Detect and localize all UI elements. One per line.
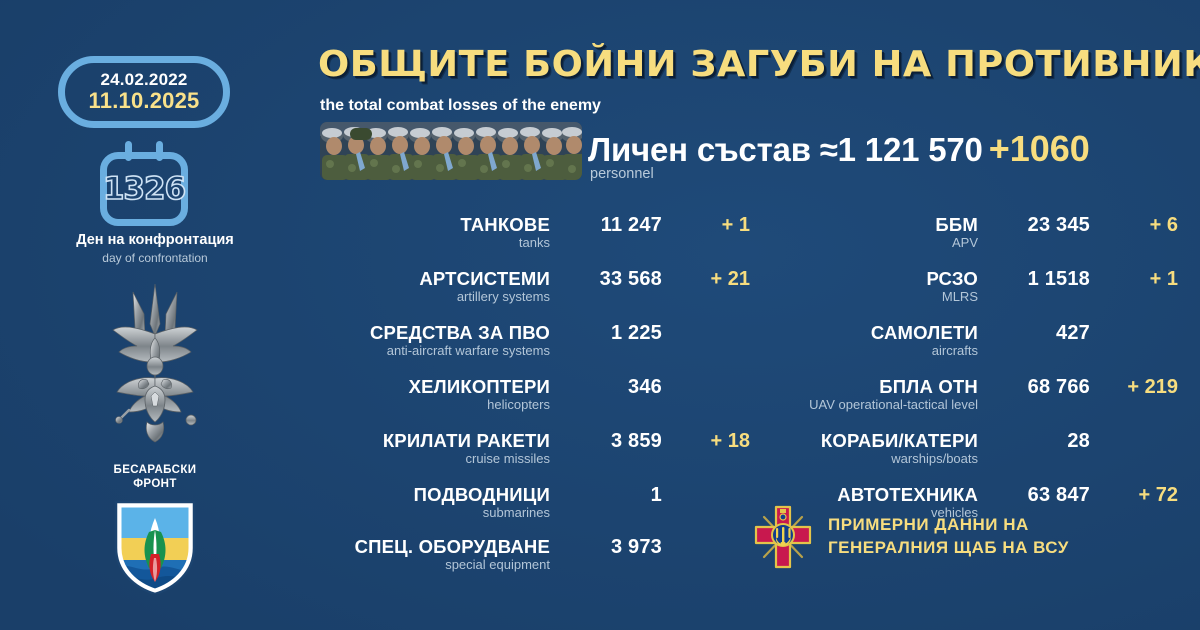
- losses-row-name-bg: ПОДВОДНИЦИ: [414, 484, 550, 506]
- personnel-delta: +1060: [989, 128, 1090, 169]
- brand-line-2: ФРОНТ: [133, 478, 177, 490]
- infographic-canvas: 24.02.2022 11.10.2025 1326 Ден на конфро…: [0, 0, 1200, 630]
- besarabski-front-shield-icon: [113, 498, 197, 594]
- day-counter-value: 1326: [103, 171, 185, 207]
- losses-row-name-bg: ББМ: [935, 214, 978, 236]
- losses-row-total: 1 225: [552, 322, 662, 345]
- losses-row-total: 3 859: [552, 430, 662, 453]
- losses-row-name-en: MLRS: [942, 289, 978, 304]
- sidebar: 24.02.2022 11.10.2025 1326 Ден на конфро…: [0, 0, 310, 630]
- current-date: 11.10.2025: [89, 89, 200, 113]
- losses-row-name-en: APV: [952, 235, 978, 250]
- losses-row-total: 11 247: [552, 214, 662, 237]
- source-note: ПРИМЕРНИ ДАННИ НА ГЕНЕРАЛНИЯ ЩАБ НА ВСУ: [752, 503, 1172, 571]
- general-staff-emblem-icon: [752, 503, 814, 571]
- personnel-row: Личен състав ≈1 121 570+1060: [588, 128, 1090, 170]
- losses-row-delta: + 1: [672, 214, 750, 237]
- losses-row-name-bg: БПЛА ОТН: [879, 376, 978, 398]
- losses-row-name-bg: ХЕЛИКОПТЕРИ: [409, 376, 550, 398]
- losses-row-name-en: anti-aircraft warfare systems: [387, 343, 550, 358]
- losses-row-name-en: submarines: [483, 505, 550, 520]
- losses-row-name-bg: КОРАБИ/КАТЕРИ: [821, 430, 978, 452]
- brand-name: БЕСАРАБСКИ ФРОНТ: [0, 463, 310, 492]
- day-label-en: day of confrontation: [0, 251, 310, 265]
- calendar-icon: 1326: [100, 152, 188, 226]
- losses-row-name-en: artillery systems: [457, 289, 550, 304]
- personnel-label: Личен състав ≈: [588, 131, 838, 168]
- losses-row-name-bg: АРТСИСТЕМИ: [419, 268, 550, 290]
- losses-row-delta: + 1: [1100, 268, 1178, 291]
- soldiers-photo: [320, 122, 582, 180]
- losses-row-total: 3 973: [552, 536, 662, 559]
- losses-row-name-bg: КРИЛАТИ РАКЕТИ: [383, 430, 550, 452]
- brand-line-1: БЕСАРАБСКИ: [114, 464, 197, 476]
- calendar-ring-right-icon: [156, 141, 163, 161]
- losses-row-total: 1 1518: [980, 268, 1090, 291]
- losses-row-name-en: helicopters: [487, 397, 550, 412]
- losses-row-total: 427: [980, 322, 1090, 345]
- losses-row-delta: + 6: [1100, 214, 1178, 237]
- eagle-emblem-icon: [95, 278, 215, 453]
- day-label-bg: Ден на конфронтация: [0, 232, 310, 248]
- losses-row-delta: + 219: [1100, 376, 1178, 399]
- losses-row-name-en: tanks: [519, 235, 550, 250]
- losses-row-total: 28: [980, 430, 1090, 453]
- losses-row-name-en: warships/boats: [891, 451, 978, 466]
- losses-row-total: 68 766: [980, 376, 1090, 399]
- soldiers-photo-graphic: [320, 122, 582, 180]
- losses-row-name-en: UAV operational-tactical level: [809, 397, 978, 412]
- calendar-ring-left-icon: [125, 141, 132, 161]
- page-subtitle: the total combat losses of the enemy: [320, 97, 601, 115]
- losses-row-name-en: cruise missiles: [465, 451, 550, 466]
- losses-row-total: 346: [552, 376, 662, 399]
- personnel-total: 1 121 570: [838, 131, 983, 168]
- personnel-sublabel: personnel: [590, 166, 654, 182]
- losses-row-name-en: aircrafts: [932, 343, 978, 358]
- losses-row-name-bg: ТАНКОВЕ: [460, 214, 550, 236]
- losses-row-delta: + 18: [672, 430, 750, 453]
- source-note-text: ПРИМЕРНИ ДАННИ НА ГЕНЕРАЛНИЯ ЩАБ НА ВСУ: [828, 514, 1069, 560]
- losses-row-total: 33 568: [552, 268, 662, 291]
- losses-row-name-bg: СПЕЦ. ОБОРУДВАНЕ: [355, 536, 550, 558]
- page-title: ОБЩИТЕ БОЙНИ ЗАГУБИ НА ПРОТИВНИКА: [318, 44, 1200, 85]
- war-start-date: 24.02.2022: [100, 71, 187, 89]
- losses-row-total: 23 345: [980, 214, 1090, 237]
- losses-row-name-bg: СРЕДСТВА ЗА ПВО: [370, 322, 550, 344]
- losses-row-name-en: special equipment: [445, 557, 550, 572]
- losses-row-name-bg: САМОЛЕТИ: [871, 322, 978, 344]
- losses-row-total: 1: [552, 484, 662, 507]
- losses-row-delta: + 21: [672, 268, 750, 291]
- date-range-capsule: 24.02.2022 11.10.2025: [58, 56, 230, 128]
- losses-row-name-bg: РСЗО: [926, 268, 978, 290]
